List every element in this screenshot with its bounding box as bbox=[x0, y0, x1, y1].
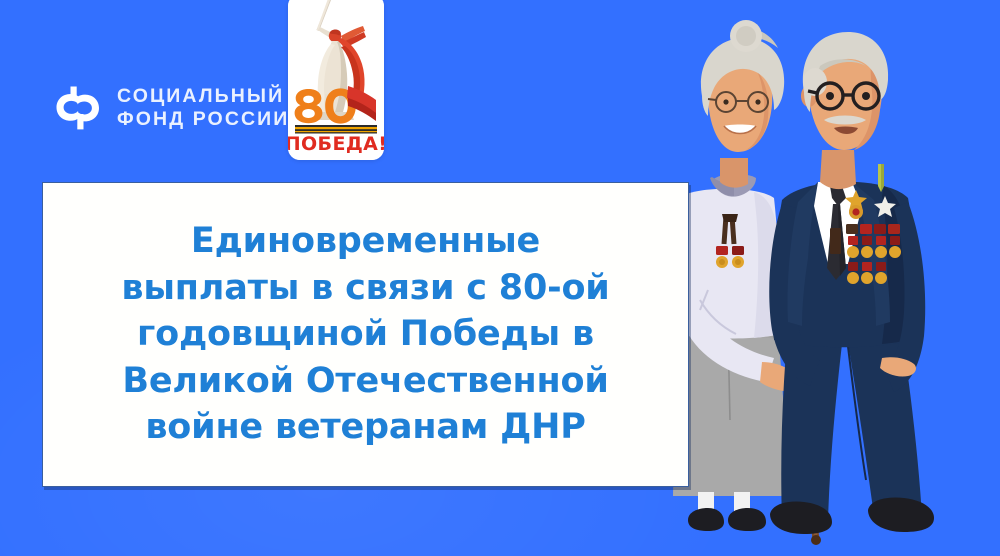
headline-card: Единовременные выплаты в связи с 80-ой г… bbox=[42, 182, 689, 487]
sfr-logo-line-2: ФОНД РОССИИ bbox=[117, 108, 289, 131]
sfr-logo: СОЦИАЛЬНЫЙ ФОНД РОССИИ bbox=[50, 80, 289, 136]
sfr-monogram-icon bbox=[50, 80, 106, 136]
elderly-man-veteran bbox=[769, 32, 934, 534]
sfr-logo-wordmark: СОЦИАЛЬНЫЙ ФОНД РОССИИ bbox=[117, 85, 289, 130]
poster-canvas: СОЦИАЛЬНЫЙ ФОНД РОССИИ bbox=[0, 0, 1000, 556]
sfr-logo-line-1: СОЦИАЛЬНЫЙ bbox=[117, 85, 289, 108]
headline-line-1: Единовременные bbox=[121, 218, 609, 265]
victory-80-emblem: ПОБЕДА! bbox=[288, 0, 384, 160]
veteran-couple-illustration bbox=[670, 0, 1000, 556]
headline-line-4: Великой Отечественной bbox=[121, 358, 609, 405]
headline-line-3: годовщиной Победы в bbox=[121, 311, 609, 358]
page-title: Единовременные выплаты в связи с 80-ой г… bbox=[103, 218, 627, 451]
headline-line-2: выплаты в связи с 80-ой bbox=[121, 265, 609, 312]
emblem-caption: ПОБЕДА! bbox=[288, 133, 384, 155]
headline-line-5: войне ветеранам ДНР bbox=[121, 404, 609, 451]
